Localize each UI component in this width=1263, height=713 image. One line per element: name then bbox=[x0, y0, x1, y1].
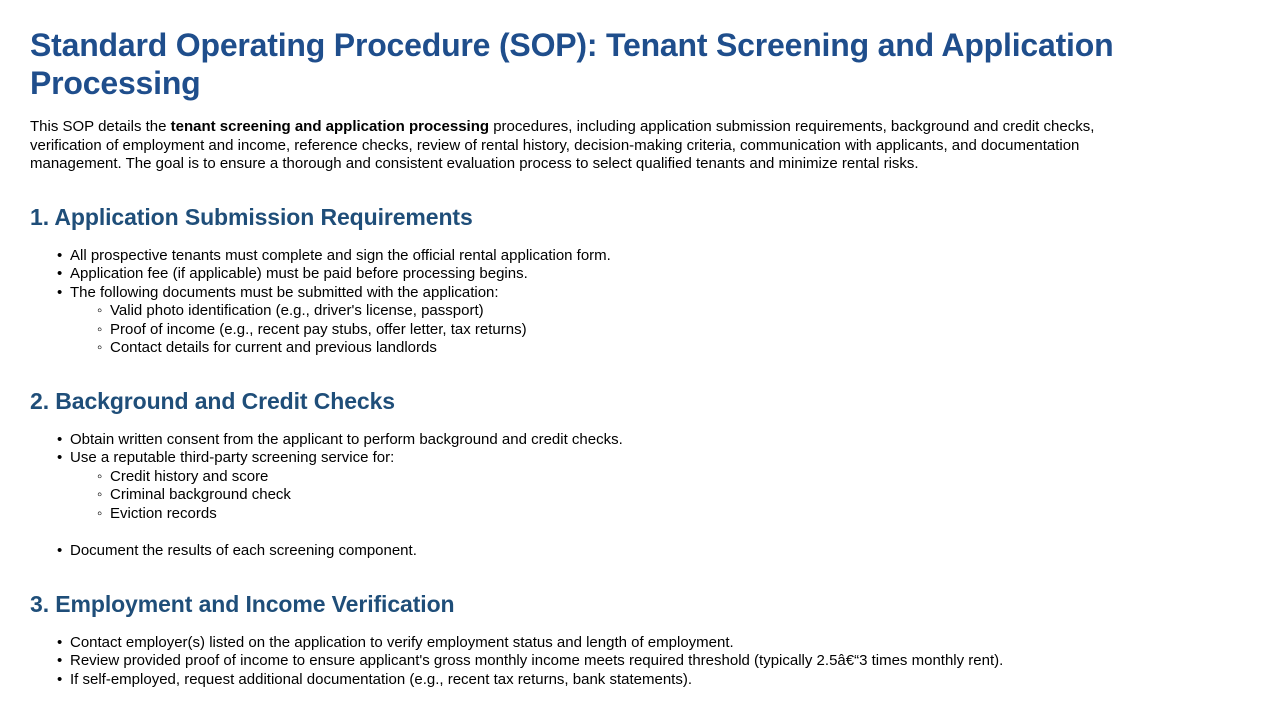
list-item-text: Contact employer(s) listed on the applic… bbox=[70, 634, 1233, 653]
section-heading-2: 2. Background and Credit Checks bbox=[30, 388, 1233, 415]
sub-list-item: Contact details for current and previous… bbox=[70, 339, 1233, 358]
page-title: Standard Operating Procedure (SOP): Tena… bbox=[30, 26, 1166, 102]
section-1-sublist: Valid photo identification (e.g., driver… bbox=[70, 302, 1233, 358]
sub-list-item-text: Valid photo identification (e.g., driver… bbox=[110, 302, 1233, 321]
list-item-text: Application fee (if applicable) must be … bbox=[70, 265, 1233, 284]
list-item: All prospective tenants must complete an… bbox=[30, 247, 1233, 266]
sub-list-item-text: Eviction records bbox=[110, 505, 1233, 524]
list-item: Application fee (if applicable) must be … bbox=[30, 265, 1233, 284]
intro-emphasis: tenant screening and application process… bbox=[171, 118, 489, 135]
list-item: Contact employer(s) listed on the applic… bbox=[30, 634, 1233, 653]
section-body-2: Obtain written consent from the applican… bbox=[30, 431, 1233, 561]
sub-list-item: Credit history and score bbox=[70, 468, 1233, 487]
list-item-text: Document the results of each screening c… bbox=[70, 542, 1233, 561]
sub-list-item: Eviction records bbox=[70, 505, 1233, 524]
section-heading-3: 3. Employment and Income Verification bbox=[30, 591, 1233, 618]
section-body-3: Contact employer(s) listed on the applic… bbox=[30, 634, 1233, 690]
list-item-text: If self-employed, request additional doc… bbox=[70, 671, 1233, 690]
list-item: Review provided proof of income to ensur… bbox=[30, 652, 1233, 671]
sub-list-item: Proof of income (e.g., recent pay stubs,… bbox=[70, 321, 1233, 340]
sub-list-item-text: Criminal background check bbox=[110, 486, 1233, 505]
list-item-text: Review provided proof of income to ensur… bbox=[70, 652, 1233, 671]
list-item: Obtain written consent from the applican… bbox=[30, 431, 1233, 450]
section-2-sublist: Credit history and score Criminal backgr… bbox=[70, 468, 1233, 524]
sub-list-item-text: Proof of income (e.g., recent pay stubs,… bbox=[110, 321, 1233, 340]
sub-list-item-text: Credit history and score bbox=[110, 468, 1233, 487]
list-item: Document the results of each screening c… bbox=[30, 542, 1233, 561]
list-item-text: The following documents must be submitte… bbox=[70, 284, 1233, 303]
section-heading-1: 1. Application Submission Requirements bbox=[30, 204, 1233, 231]
section-3-list: Contact employer(s) listed on the applic… bbox=[30, 634, 1233, 690]
sub-list-item: Criminal background check bbox=[70, 486, 1233, 505]
section-1-list: All prospective tenants must complete an… bbox=[30, 247, 1233, 358]
section-body-1: All prospective tenants must complete an… bbox=[30, 247, 1233, 358]
intro-lead: This SOP details the bbox=[30, 118, 171, 135]
list-item-text: All prospective tenants must complete an… bbox=[70, 247, 1233, 266]
list-item: The following documents must be submitte… bbox=[30, 284, 1233, 358]
sub-list-item: Valid photo identification (e.g., driver… bbox=[70, 302, 1233, 321]
list-item: If self-employed, request additional doc… bbox=[30, 671, 1233, 690]
intro-paragraph: This SOP details the tenant screening an… bbox=[30, 118, 1166, 174]
list-item-text: Obtain written consent from the applican… bbox=[70, 431, 1233, 450]
document-page: Standard Operating Procedure (SOP): Tena… bbox=[0, 26, 1263, 689]
list-item-text: Use a reputable third-party screening se… bbox=[70, 449, 1233, 468]
list-item: Use a reputable third-party screening se… bbox=[30, 449, 1233, 523]
section-2-list: Obtain written consent from the applican… bbox=[30, 431, 1233, 561]
sub-list-item-text: Contact details for current and previous… bbox=[110, 339, 1233, 358]
